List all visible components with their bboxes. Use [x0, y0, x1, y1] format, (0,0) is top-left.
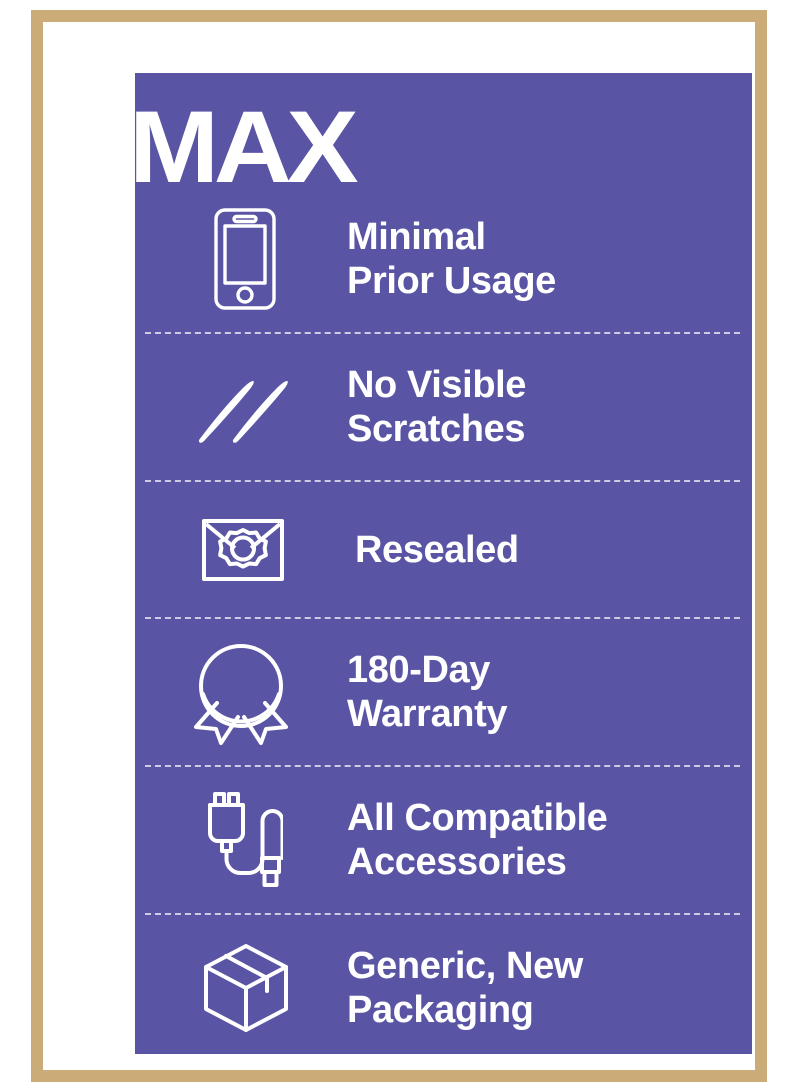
- feature-label: No Visible Scratches: [347, 363, 742, 451]
- feature-list: Minimal Prior Usage No Visible Scratches: [135, 186, 752, 1054]
- decorative-gold-frame: MAX Minimal Prior Usage: [31, 10, 767, 1082]
- feature-label: All Compatible Accessories: [347, 796, 742, 884]
- feature-row-resealed: Resealed: [135, 482, 752, 617]
- feature-row-packaging: Generic, New Packaging: [135, 915, 752, 1054]
- feature-row-accessories: All Compatible Accessories: [135, 767, 752, 913]
- scratches-icon: [135, 334, 347, 480]
- smartphone-icon: [135, 186, 347, 332]
- feature-row-no-visible-scratches: No Visible Scratches: [135, 334, 752, 480]
- award-ribbon-icon: [135, 619, 347, 765]
- feature-label-cell: Resealed: [347, 528, 752, 572]
- condition-info-panel: MAX Minimal Prior Usage: [135, 73, 752, 1054]
- feature-label-cell: No Visible Scratches: [347, 363, 752, 451]
- feature-row-warranty: 180-Day Warranty: [135, 619, 752, 765]
- feature-label: Generic, New Packaging: [347, 944, 742, 1032]
- brand-name-text: MAX: [135, 97, 752, 197]
- feature-label: Resealed: [355, 528, 742, 572]
- sealed-envelope-icon: [135, 482, 347, 617]
- feature-label-cell: 180-Day Warranty: [347, 648, 752, 736]
- feature-row-minimal-prior-usage: Minimal Prior Usage: [135, 186, 752, 332]
- feature-label: 180-Day Warranty: [347, 648, 742, 736]
- feature-label-cell: Minimal Prior Usage: [347, 215, 752, 303]
- usb-cable-icon: [135, 767, 347, 913]
- feature-label-cell: All Compatible Accessories: [347, 796, 752, 884]
- feature-label-cell: Generic, New Packaging: [347, 944, 752, 1032]
- feature-label: Minimal Prior Usage: [347, 215, 742, 303]
- package-box-icon: [135, 915, 347, 1054]
